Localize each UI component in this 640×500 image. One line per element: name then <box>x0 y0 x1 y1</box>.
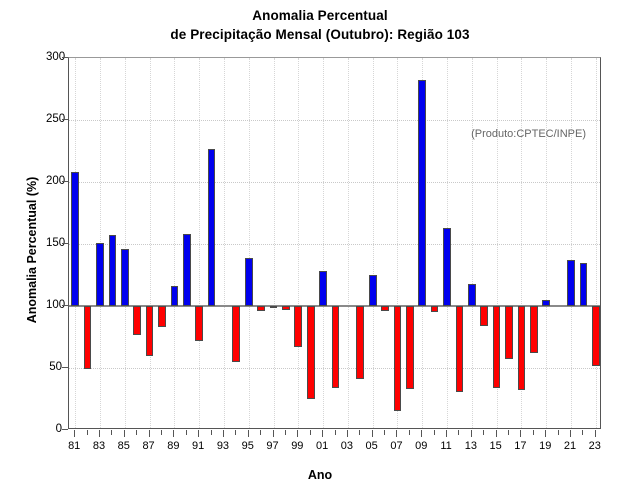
bar-96 <box>257 306 265 311</box>
y-tick-mark <box>62 243 68 244</box>
x-tick-mark <box>260 430 261 435</box>
bar-19 <box>542 300 550 306</box>
x-tick-label: 83 <box>87 440 111 452</box>
x-tick-label: 19 <box>533 440 557 452</box>
bar-87 <box>146 306 154 356</box>
x-tick-mark <box>508 430 509 435</box>
y-tick-mark <box>62 181 68 182</box>
bar-02 <box>332 306 340 388</box>
x-tick-label: 87 <box>137 440 161 452</box>
bar-85 <box>121 249 129 306</box>
x-tick-label: 05 <box>360 440 384 452</box>
chart-title-line-1: Anomalia Percentual <box>0 6 640 25</box>
y-tick-label: 250 <box>46 113 62 125</box>
x-tick-mark <box>198 430 199 437</box>
x-tick-label: 97 <box>261 440 285 452</box>
bar-11 <box>443 228 451 306</box>
bar-08 <box>406 306 414 389</box>
x-tick-mark <box>99 430 100 437</box>
chart-title-line-2: de Precipitação Mensal (Outubro): Região… <box>0 25 640 44</box>
x-tick-mark <box>285 430 286 435</box>
x-tick-mark <box>310 430 311 435</box>
x-tick-label: 99 <box>285 440 309 452</box>
bar-09 <box>418 80 426 306</box>
bar-10 <box>431 306 439 312</box>
plot-area: (Produto:CPTEC/INPE) <box>68 57 601 429</box>
bar-06 <box>381 306 389 311</box>
bar-13 <box>468 284 476 306</box>
x-tick-mark <box>595 430 596 437</box>
x-tick-mark <box>111 430 112 435</box>
x-tick-mark <box>396 430 397 437</box>
x-tick-mark <box>297 430 298 437</box>
x-tick-mark <box>496 430 497 437</box>
bar-22 <box>580 263 588 306</box>
bar-series <box>69 58 600 428</box>
x-tick-mark <box>347 430 348 437</box>
bar-14 <box>480 306 488 326</box>
x-tick-label: 23 <box>583 440 607 452</box>
bar-90 <box>183 234 191 306</box>
x-tick-mark <box>124 430 125 437</box>
bar-23 <box>592 306 600 366</box>
x-tick-label: 07 <box>384 440 408 452</box>
y-tick-mark <box>62 305 68 306</box>
x-tick-label: 95 <box>236 440 260 452</box>
x-tick-mark <box>223 430 224 437</box>
x-tick-mark <box>248 430 249 437</box>
x-tick-label: 89 <box>161 440 185 452</box>
x-tick-mark <box>359 430 360 435</box>
bar-83 <box>96 243 104 306</box>
x-tick-mark <box>582 430 583 435</box>
x-tick-mark <box>322 430 323 437</box>
y-axis-label: Anomalia Percentual (%) <box>25 140 39 360</box>
bar-01 <box>319 271 327 306</box>
x-tick-mark <box>446 430 447 437</box>
x-tick-label: 93 <box>211 440 235 452</box>
x-tick-label: 09 <box>409 440 433 452</box>
x-tick-mark <box>186 430 187 435</box>
bar-16 <box>505 306 513 359</box>
x-tick-label: 11 <box>434 440 458 452</box>
x-tick-mark <box>520 430 521 437</box>
bar-18 <box>530 306 538 353</box>
x-tick-label: 15 <box>484 440 508 452</box>
x-tick-mark <box>421 430 422 437</box>
y-tick-label: 0 <box>46 423 62 435</box>
producer-annotation: (Produto:CPTEC/INPE) <box>471 128 586 140</box>
y-tick-label: 300 <box>46 51 62 63</box>
x-tick-mark <box>533 430 534 435</box>
x-tick-mark <box>409 430 410 435</box>
bar-88 <box>158 306 166 327</box>
x-tick-label: 81 <box>62 440 86 452</box>
bar-98 <box>282 306 290 310</box>
x-tick-label: 01 <box>310 440 334 452</box>
bar-99 <box>294 306 302 347</box>
chart-title: Anomalia Percentual de Precipitação Mens… <box>0 6 640 44</box>
x-tick-label: 91 <box>186 440 210 452</box>
y-tick-label: 150 <box>46 237 62 249</box>
bar-86 <box>133 306 141 335</box>
x-tick-mark <box>558 430 559 435</box>
x-tick-mark <box>372 430 373 437</box>
bar-81 <box>71 172 79 306</box>
y-tick-label: 100 <box>46 299 62 311</box>
bar-12 <box>456 306 464 392</box>
x-tick-mark <box>74 430 75 437</box>
y-tick-mark <box>62 119 68 120</box>
x-axis-label: Ano <box>0 468 640 482</box>
x-tick-mark <box>335 430 336 435</box>
x-tick-label: 85 <box>112 440 136 452</box>
x-tick-mark <box>471 430 472 437</box>
bar-94 <box>232 306 240 362</box>
x-tick-mark <box>384 430 385 435</box>
x-tick-label: 21 <box>558 440 582 452</box>
bar-05 <box>369 275 377 306</box>
x-tick-mark <box>434 430 435 435</box>
x-tick-mark <box>570 430 571 437</box>
x-tick-mark <box>235 430 236 435</box>
x-tick-mark <box>483 430 484 435</box>
bar-92 <box>208 149 216 306</box>
x-tick-mark <box>211 430 212 435</box>
bar-97 <box>270 306 278 308</box>
y-tick-mark <box>62 429 68 430</box>
chart-figure: Anomalia Percentual de Precipitação Mens… <box>0 0 640 500</box>
x-tick-mark <box>173 430 174 437</box>
x-tick-mark <box>161 430 162 435</box>
x-tick-label: 13 <box>459 440 483 452</box>
bar-07 <box>394 306 402 411</box>
y-tick-mark <box>62 367 68 368</box>
y-tick-mark <box>62 57 68 58</box>
bar-15 <box>493 306 501 388</box>
y-tick-label: 200 <box>46 175 62 187</box>
x-tick-mark <box>458 430 459 435</box>
x-tick-mark <box>136 430 137 435</box>
x-tick-mark <box>149 430 150 437</box>
bar-04 <box>356 306 364 379</box>
y-tick-label: 50 <box>46 361 62 373</box>
bar-95 <box>245 258 253 306</box>
bar-84 <box>109 235 117 306</box>
bar-91 <box>195 306 203 341</box>
bar-17 <box>518 306 526 390</box>
x-tick-label: 17 <box>508 440 532 452</box>
x-tick-mark <box>87 430 88 435</box>
bar-89 <box>171 286 179 306</box>
x-tick-mark <box>545 430 546 437</box>
x-tick-label: 03 <box>335 440 359 452</box>
bar-00 <box>307 306 315 399</box>
bar-21 <box>567 260 575 306</box>
bar-82 <box>84 306 92 369</box>
x-tick-mark <box>273 430 274 437</box>
